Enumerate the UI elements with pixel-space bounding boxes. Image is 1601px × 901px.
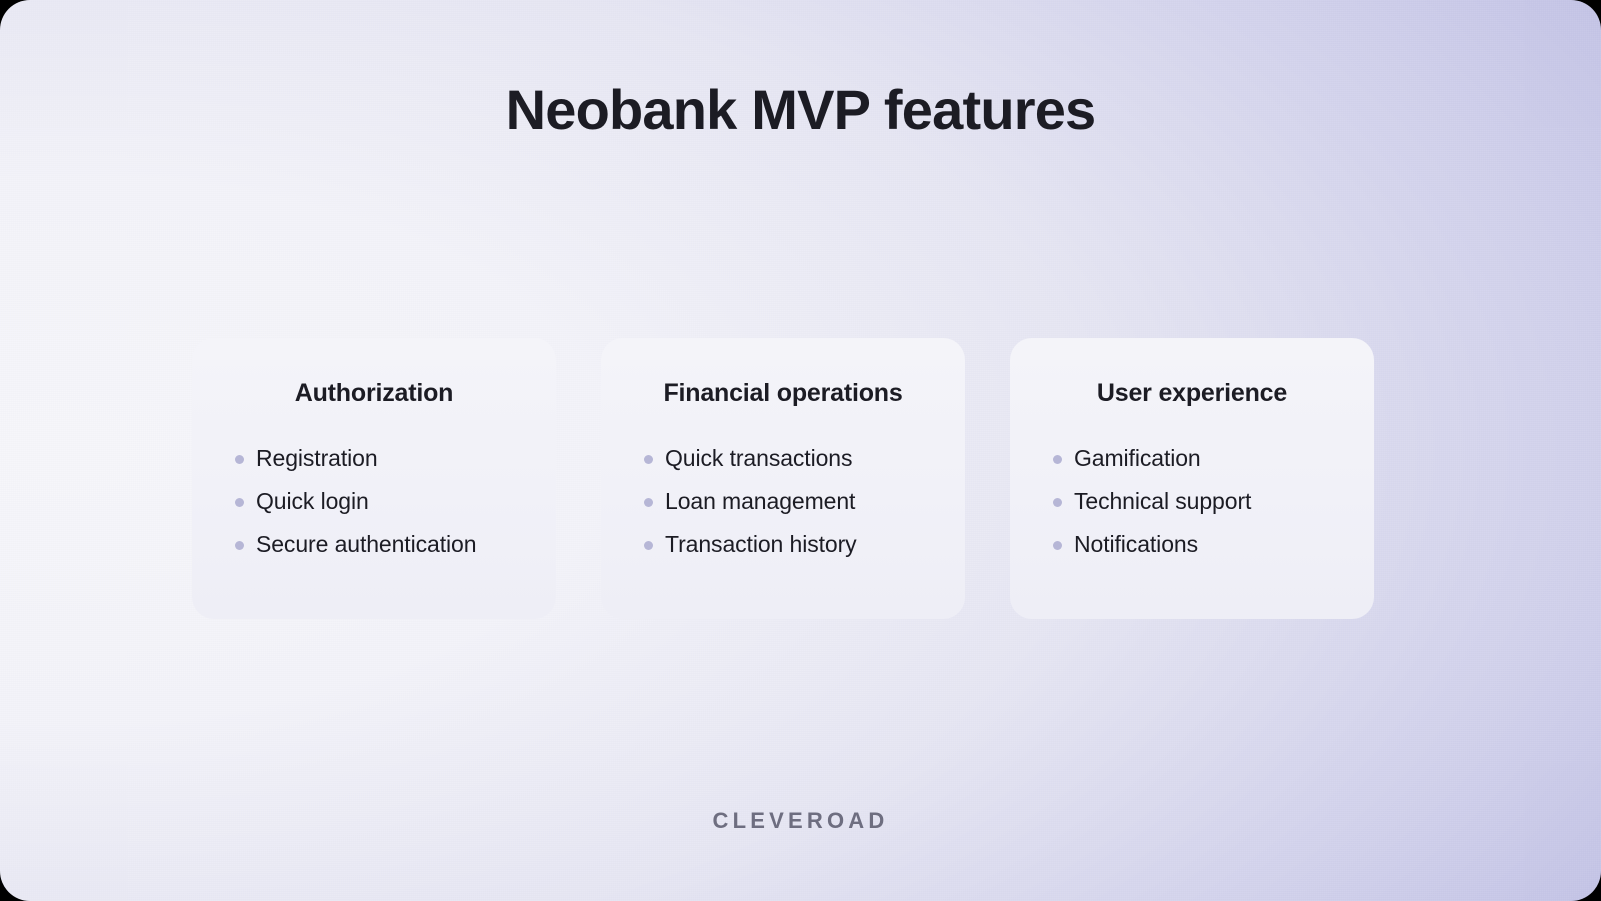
- feature-card-authorization[interactable]: Authorization Registration Quick login S…: [192, 338, 556, 619]
- feature-list: Registration Quick login Secure authenti…: [192, 437, 556, 566]
- list-item-label: Transaction history: [665, 531, 857, 558]
- list-item: Secure authentication: [235, 523, 556, 566]
- bullet-dot-icon: [1053, 541, 1062, 550]
- list-item-label: Notifications: [1074, 531, 1198, 558]
- card-title: User experience: [1010, 378, 1374, 408]
- page-title: Neobank MVP features: [0, 78, 1601, 142]
- list-item-label: Loan management: [665, 488, 855, 515]
- bullet-dot-icon: [1053, 498, 1062, 507]
- bullet-dot-icon: [235, 541, 244, 550]
- list-item: Notifications: [1053, 523, 1374, 566]
- list-item-label: Quick login: [256, 488, 369, 515]
- list-item: Transaction history: [644, 523, 965, 566]
- bullet-dot-icon: [644, 541, 653, 550]
- list-item: Quick login: [235, 480, 556, 523]
- feature-card-user-experience[interactable]: User experience Gamification Technical s…: [1010, 338, 1374, 619]
- list-item: Loan management: [644, 480, 965, 523]
- list-item: Registration: [235, 437, 556, 480]
- feature-list: Quick transactions Loan management Trans…: [601, 437, 965, 566]
- feature-card-financial-operations[interactable]: Financial operations Quick transactions …: [601, 338, 965, 619]
- list-item: Quick transactions: [644, 437, 965, 480]
- list-item-label: Registration: [256, 445, 378, 472]
- list-item-label: Gamification: [1074, 445, 1201, 472]
- brand-wordmark: CLEVEROAD: [0, 808, 1601, 834]
- bullet-dot-icon: [1053, 455, 1062, 464]
- bullet-dot-icon: [235, 455, 244, 464]
- card-title: Authorization: [192, 378, 556, 408]
- list-item-label: Technical support: [1074, 488, 1251, 515]
- card-title: Financial operations: [601, 378, 965, 408]
- slide-canvas: Neobank MVP features Authorization Regis…: [0, 0, 1601, 901]
- list-item: Gamification: [1053, 437, 1374, 480]
- bullet-dot-icon: [644, 498, 653, 507]
- list-item-label: Secure authentication: [256, 531, 476, 558]
- feature-list: Gamification Technical support Notificat…: [1010, 437, 1374, 566]
- feature-card-grid: Authorization Registration Quick login S…: [192, 338, 1374, 619]
- list-item: Technical support: [1053, 480, 1374, 523]
- list-item-label: Quick transactions: [665, 445, 852, 472]
- bullet-dot-icon: [644, 455, 653, 464]
- bullet-dot-icon: [235, 498, 244, 507]
